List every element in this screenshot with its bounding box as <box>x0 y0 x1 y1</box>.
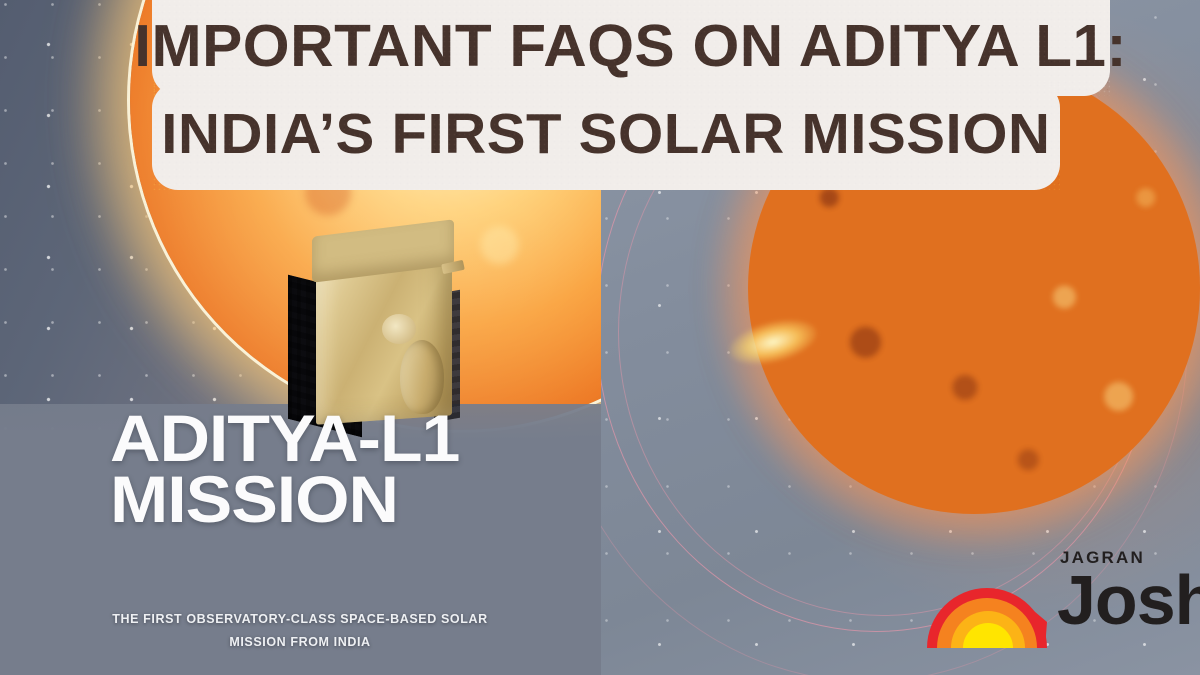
logo-brand-main: Josh <box>1057 570 1200 632</box>
aditya-poster-panel: ADITYA-L1 MISSION THE FIRST OBSERVATORY-… <box>0 0 601 675</box>
thumbnail-canvas: ADITYA-L1 MISSION THE FIRST OBSERVATORY-… <box>0 0 1200 675</box>
poster-subtitle-line-1: THE FIRST OBSERVATORY-CLASS SPACE-BASED … <box>112 612 487 626</box>
sunburst-logo-icon <box>925 578 1053 650</box>
poster-subtitle-line-2: MISSION FROM INDIA <box>229 635 370 649</box>
sun-surface-texture <box>748 62 1200 514</box>
logo-wordmark: JAGRAN Josh <box>1057 548 1200 632</box>
poster-title: ADITYA-L1 MISSION <box>110 408 534 529</box>
antenna-dish-icon <box>382 314 416 344</box>
sun-disc <box>748 62 1200 514</box>
jagran-josh-logo[interactable]: JAGRAN Josh <box>925 548 1200 666</box>
poster-subtitle: THE FIRST OBSERVATORY-CLASS SPACE-BASED … <box>90 608 510 654</box>
poster-title-line-2: MISSION <box>110 469 534 530</box>
